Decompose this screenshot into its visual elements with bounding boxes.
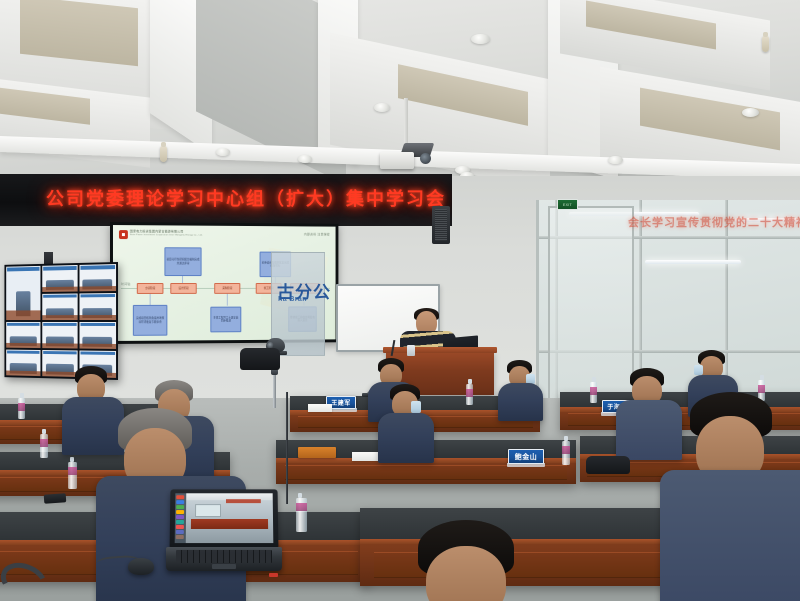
slide-milestone: 设计阶段 xyxy=(170,283,196,294)
water-bottle xyxy=(40,434,48,458)
document-sheet xyxy=(352,452,380,461)
video-tile xyxy=(6,322,41,348)
video-tile xyxy=(42,293,78,320)
tube-light xyxy=(645,260,741,264)
video-tile xyxy=(6,349,41,376)
notebook xyxy=(298,447,336,458)
branch-sign-english: lia Bran xyxy=(278,296,307,303)
slide-milestone: 采购阶段 xyxy=(214,283,240,294)
projector-lens xyxy=(420,153,431,164)
name-placard: 鲍金山 xyxy=(508,449,544,464)
spotlight xyxy=(762,36,769,52)
led-banner-panel: 公司党委理论学习中心组（扩大）集中学习会 xyxy=(0,174,452,226)
video-tile xyxy=(79,322,116,349)
downlight xyxy=(742,108,759,117)
chair xyxy=(240,348,280,370)
downlight xyxy=(471,34,490,44)
glass-door[interactable] xyxy=(548,206,634,402)
video-tile xyxy=(79,264,116,292)
slide-note-box: 完成项目核准备案用地预审环评批复节能审查 xyxy=(133,305,168,336)
ceiling-projector xyxy=(378,143,434,170)
laptop-touchpad[interactable] xyxy=(212,564,236,569)
video-wall-remote-participants xyxy=(4,262,118,380)
laptop-base xyxy=(166,547,282,571)
spotlight xyxy=(160,146,167,162)
face-mask xyxy=(411,401,421,413)
slide-header-en: State Power Investment Corporation Inner… xyxy=(130,234,203,237)
foreground-laptop[interactable] xyxy=(166,489,282,571)
computer-mouse[interactable] xyxy=(128,558,154,575)
conference-room-photo: EXIT 会长学习宣传贯彻党的二十大精神专题党课 公司党委理论学习中心组（扩大）… xyxy=(0,0,800,601)
presenter-badge xyxy=(407,345,415,356)
chair xyxy=(586,456,630,474)
laptop-keyboard[interactable] xyxy=(176,550,272,563)
water-bottle xyxy=(562,441,570,465)
video-tile xyxy=(42,322,78,349)
ceiling xyxy=(0,0,800,186)
mobile-phone[interactable] xyxy=(44,493,67,504)
wall-speaker xyxy=(432,206,450,244)
exit-sign-label: EXIT xyxy=(563,203,572,207)
downlight xyxy=(374,103,390,112)
laptop-taskbar[interactable] xyxy=(175,493,187,543)
downlight xyxy=(608,156,623,164)
video-tile xyxy=(79,293,116,320)
slide-milestone: 立项阶段 xyxy=(137,283,164,294)
water-bottle xyxy=(296,498,307,532)
slide-corner-note: 内部资料 注意保密 xyxy=(304,232,330,236)
video-tile xyxy=(6,266,41,320)
water-bottle xyxy=(466,384,473,405)
slide-logo-icon xyxy=(119,230,128,239)
laptop-screen xyxy=(175,493,274,543)
lenovo-logo-icon xyxy=(269,573,278,577)
water-bottle xyxy=(590,382,597,403)
led-banner-secondary: 会长学习宣传贯彻党的二十大精神专题党课 xyxy=(628,214,800,230)
microphone-stand xyxy=(286,392,288,504)
document-sheet xyxy=(308,404,332,412)
laptop-live-preview xyxy=(186,493,274,543)
video-tile xyxy=(42,350,78,377)
slide-axis-label: 时间轴 xyxy=(121,282,131,286)
water-bottle xyxy=(18,398,25,419)
led-banner-text: 公司党委理论学习中心组（扩大）集中学习会 xyxy=(46,185,446,211)
video-tile xyxy=(42,265,78,292)
projector-mount xyxy=(404,98,408,146)
downlight xyxy=(298,155,312,163)
exit-sign: EXIT xyxy=(557,199,578,210)
water-bottle xyxy=(68,462,77,489)
slide-note-box: 项目可行性研究报告编制完成并通过评审 xyxy=(164,247,201,276)
downlight xyxy=(216,148,230,156)
face-mask xyxy=(694,365,703,375)
slide-header: 国家电力投资集团内蒙古能源有限公司 State Power Investment… xyxy=(130,229,203,237)
slide-note-box: 主体工程开工土建安装同步推进 xyxy=(210,307,241,333)
